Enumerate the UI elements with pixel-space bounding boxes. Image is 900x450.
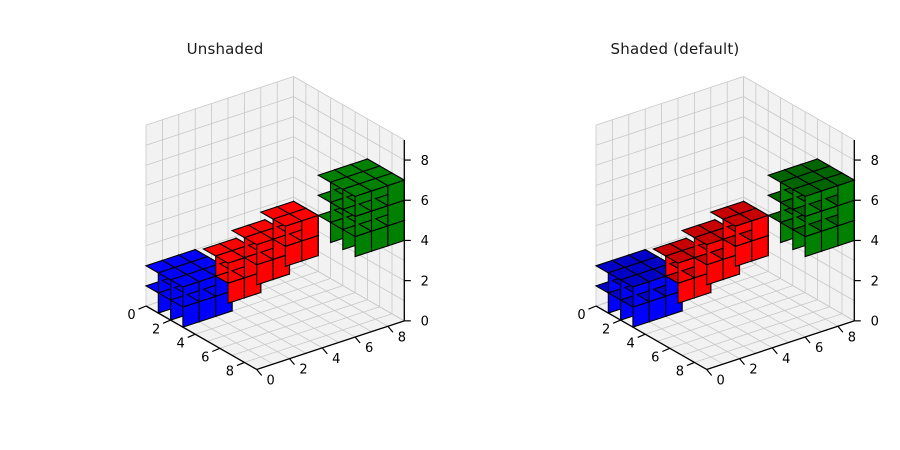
x-tick-label: 2 [152,322,160,337]
subplot-unshaded[interactable]: Unshaded 024680246802468 [0,0,450,450]
x-tick-label: 8 [226,365,234,380]
voxel-plot-shaded[interactable]: 024680246802468 [450,0,900,450]
z-tick-label: 2 [871,274,879,289]
x-tick-label: 6 [651,351,659,366]
x-tick-label: 6 [201,351,209,366]
z-tick-label: 4 [871,234,879,249]
z-tick-label: 8 [871,154,879,169]
voxel-plot-unshaded[interactable]: 024680246802468 [0,0,450,450]
x-tick-label: 0 [127,308,135,323]
z-tick-label: 6 [421,194,429,209]
y-tick-label: 6 [365,341,373,356]
figure-canvas: Unshaded 024680246802468 Shaded (default… [0,0,900,450]
z-tick-label: 2 [421,274,429,289]
x-tick-label: 2 [602,322,610,337]
x-tick-label: 8 [676,365,684,380]
x-tick-label: 0 [577,308,585,323]
z-tick-label: 0 [871,315,879,330]
x-tick-label: 4 [627,336,635,351]
z-tick-label: 0 [421,315,429,330]
z-tick-label: 6 [871,194,879,209]
subplot-shaded[interactable]: Shaded (default) 024680246802468 [450,0,900,450]
y-tick-label: 0 [267,373,275,388]
y-tick-label: 2 [299,363,307,378]
y-tick-label: 4 [332,352,340,367]
z-tick-label: 4 [421,234,429,249]
y-tick-label: 4 [782,352,790,367]
y-tick-label: 0 [717,373,725,388]
y-tick-label: 8 [848,330,856,345]
y-tick-label: 2 [749,363,757,378]
x-tick-label: 4 [177,336,185,351]
y-tick-label: 8 [398,330,406,345]
y-tick-label: 6 [815,341,823,356]
z-tick-label: 8 [421,154,429,169]
